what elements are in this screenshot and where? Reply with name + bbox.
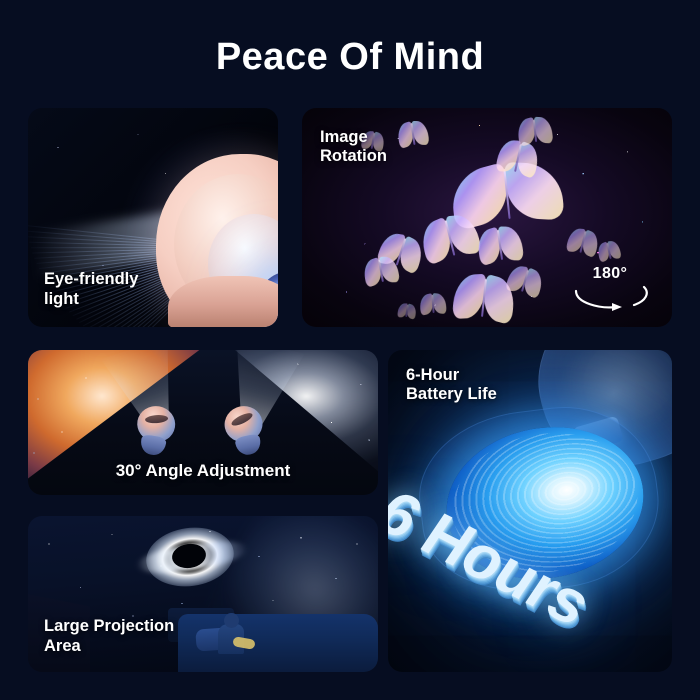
projector-stand — [234, 433, 262, 457]
projector-stand — [139, 434, 167, 457]
panel-label-battery-life: 6-Hour Battery Life — [406, 366, 497, 405]
butterfly — [419, 293, 446, 315]
butterfly — [397, 303, 417, 319]
page-title: Peace Of Mind — [0, 36, 700, 79]
panel-battery-life[interactable]: 6 Hours 6-Hour Battery Life — [388, 350, 672, 672]
butterfly — [396, 120, 429, 148]
butterfly — [517, 116, 554, 145]
projector-base — [168, 276, 278, 327]
panel-image-rotation[interactable]: Image Rotation 180° — [302, 108, 672, 327]
butterfly — [476, 225, 524, 265]
infographic-page: Peace Of Mind Eye-friendly light Image R… — [0, 0, 700, 700]
rotation-badge: 180° — [566, 265, 654, 311]
projector-left — [130, 403, 180, 460]
rotation-arrow-icon — [566, 273, 654, 313]
person-head — [224, 613, 239, 628]
panel-label-image-rotation: Image Rotation — [320, 128, 387, 167]
panel-large-projection-area[interactable]: Large Projection Area — [28, 516, 378, 672]
panel-angle-adjustment[interactable]: 30° Angle Adjustment — [28, 350, 378, 495]
panel-eye-friendly-light[interactable]: Eye-friendly light — [28, 108, 278, 327]
panel-label-large-projection-area: Large Projection Area — [44, 617, 174, 656]
panel-label-angle-adjustment: 30° Angle Adjustment — [28, 461, 378, 481]
black-hole-projection — [146, 528, 234, 586]
panel-label-eye-friendly-light: Eye-friendly light — [44, 270, 138, 309]
butterfly — [362, 255, 400, 287]
